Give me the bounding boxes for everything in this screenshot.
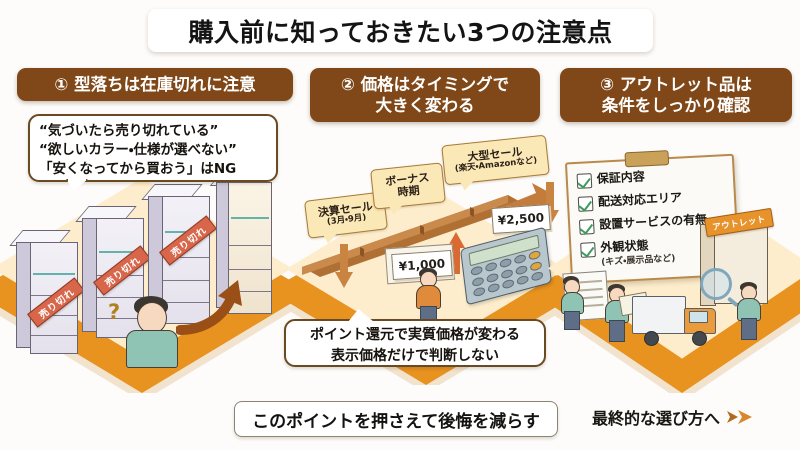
legs-shape — [609, 320, 625, 342]
calculator-key — [502, 278, 515, 289]
footer-cta-banner: このポイントを押さえて後悔を減らす — [234, 401, 558, 437]
calculator-key — [472, 276, 485, 287]
truck-cargo-box — [632, 296, 686, 334]
sale-label-line2: (3月・9月) — [327, 214, 367, 228]
caption-lines: ポイント還元で実質価格が変わる 表示価格だけで判断しない — [286, 321, 544, 371]
calculator-key — [487, 282, 500, 293]
panel-2-header-line: 大きく変わる — [341, 95, 509, 116]
bubble-line: “欲しいカラー・仕様が選べない” — [39, 141, 267, 160]
checkbox-icon — [577, 173, 593, 189]
checkbox-icon — [578, 196, 594, 212]
price-down-arrow-icon — [334, 244, 354, 288]
panel-2-header-line: ② 価格はタイミングで — [341, 74, 509, 95]
calculator-key — [499, 257, 512, 268]
inspector-figure — [736, 282, 762, 338]
page-title-text: 購入前に知っておきたい3つの注意点 — [189, 13, 613, 49]
magnifying-glass-icon — [700, 268, 732, 300]
staff-figure-left — [560, 276, 584, 328]
calculator-key — [516, 275, 529, 286]
shopper-figure — [414, 268, 442, 326]
panel-2-caption-bubble: ポイント還元で実質価格が変わる 表示価格だけで判断しない — [284, 319, 546, 367]
fridge-trim — [33, 273, 75, 275]
calculator-key — [515, 264, 528, 275]
caption-line: ポイント還元で実質価格が変わる — [292, 325, 538, 346]
infographic-canvas: 購入前に知っておきたい3つの注意点 売り切れ 売り切れ — [0, 0, 800, 450]
bubble-line: “気づいたら売り切れている” — [39, 122, 267, 141]
legs-shape — [741, 318, 757, 340]
fridge-trim — [231, 217, 269, 219]
panel-1-header-line: ① 型落ちは在庫切れに注意 — [54, 74, 255, 95]
panel-3-header-line: ③ アウトレット品は — [600, 74, 752, 95]
checklist-item: 配送対応エリア — [578, 190, 683, 211]
sale-label-bonus: ボーナス 時期 — [370, 162, 446, 209]
calculator-key — [485, 261, 498, 272]
panel-1-speech-bubble: “気づいたら売り切れている” “欲しいカラー・仕様が選べない” 「安くなってから… — [28, 114, 278, 182]
worried-customer-figure: ? — [120, 296, 182, 366]
checklist-item: 設置サービスの有無 — [579, 212, 708, 235]
bubble-lines: “気づいたら売り切れている” “欲しいカラー・仕様が選べない” 「安くなってから… — [30, 116, 276, 185]
caption-line: 表示価格だけで判断しない — [292, 346, 538, 367]
clipboard-clip — [624, 150, 669, 167]
checklist-item: 外観状態 (キズ・展示品など) — [580, 237, 676, 269]
checklist-item: 保証内容 — [576, 169, 645, 189]
flow-arrow-icon — [176, 276, 246, 338]
calculator-key — [500, 268, 513, 279]
sale-label-line2: 時期 — [397, 185, 420, 200]
question-mark-icon: ? — [108, 300, 120, 324]
fridge-illustration: 売り切れ — [30, 242, 76, 352]
truck-window — [689, 311, 708, 323]
panel-1-header: ① 型落ちは在庫切れに注意 — [17, 68, 293, 101]
arrow-right-icon — [727, 408, 753, 426]
checklist-label: 設置サービスの有無 — [599, 212, 708, 232]
next-step-text: 最終的な選び方へ — [592, 405, 720, 429]
fridge-divider — [229, 269, 271, 270]
checklist-label: 配送対応エリア — [598, 190, 683, 208]
calculator-key — [486, 272, 499, 283]
calculator-key — [470, 265, 483, 276]
footer-cta-text: このポイントを押さえて後悔を減らす — [252, 407, 540, 432]
page-title: 購入前に知っておきたい3つの注意点 — [148, 9, 653, 52]
fridge-divider — [31, 335, 77, 336]
legs-shape — [564, 311, 580, 330]
fridge-divider — [229, 245, 271, 246]
customer-with-brochure-figure — [604, 284, 630, 340]
calculator-key — [529, 260, 542, 271]
calculator-key — [473, 286, 486, 297]
panel-3-header: ③ アウトレット品は 条件をしっかり確認 — [560, 68, 792, 122]
panel-2-header: ② 価格はタイミングで 大きく変わる — [310, 68, 540, 122]
next-step-link[interactable]: 最終的な選び方へ — [592, 405, 753, 429]
calculator-key — [528, 250, 541, 261]
calculator-key — [531, 271, 544, 282]
bubble-line: 「安くなってから買おう」はNG — [39, 160, 267, 179]
panel-3-header-line: 条件をしっかり確認 — [600, 95, 752, 116]
body-shape — [126, 330, 178, 368]
truck-wheel — [692, 331, 707, 346]
checklist-sublabel: (キズ・展示品など) — [601, 251, 676, 268]
checklist-label: 保証内容 — [596, 169, 645, 185]
truck-wheel — [644, 331, 659, 346]
calculator-key — [514, 254, 527, 265]
checkbox-icon — [580, 242, 596, 258]
checkbox-icon — [579, 219, 595, 235]
